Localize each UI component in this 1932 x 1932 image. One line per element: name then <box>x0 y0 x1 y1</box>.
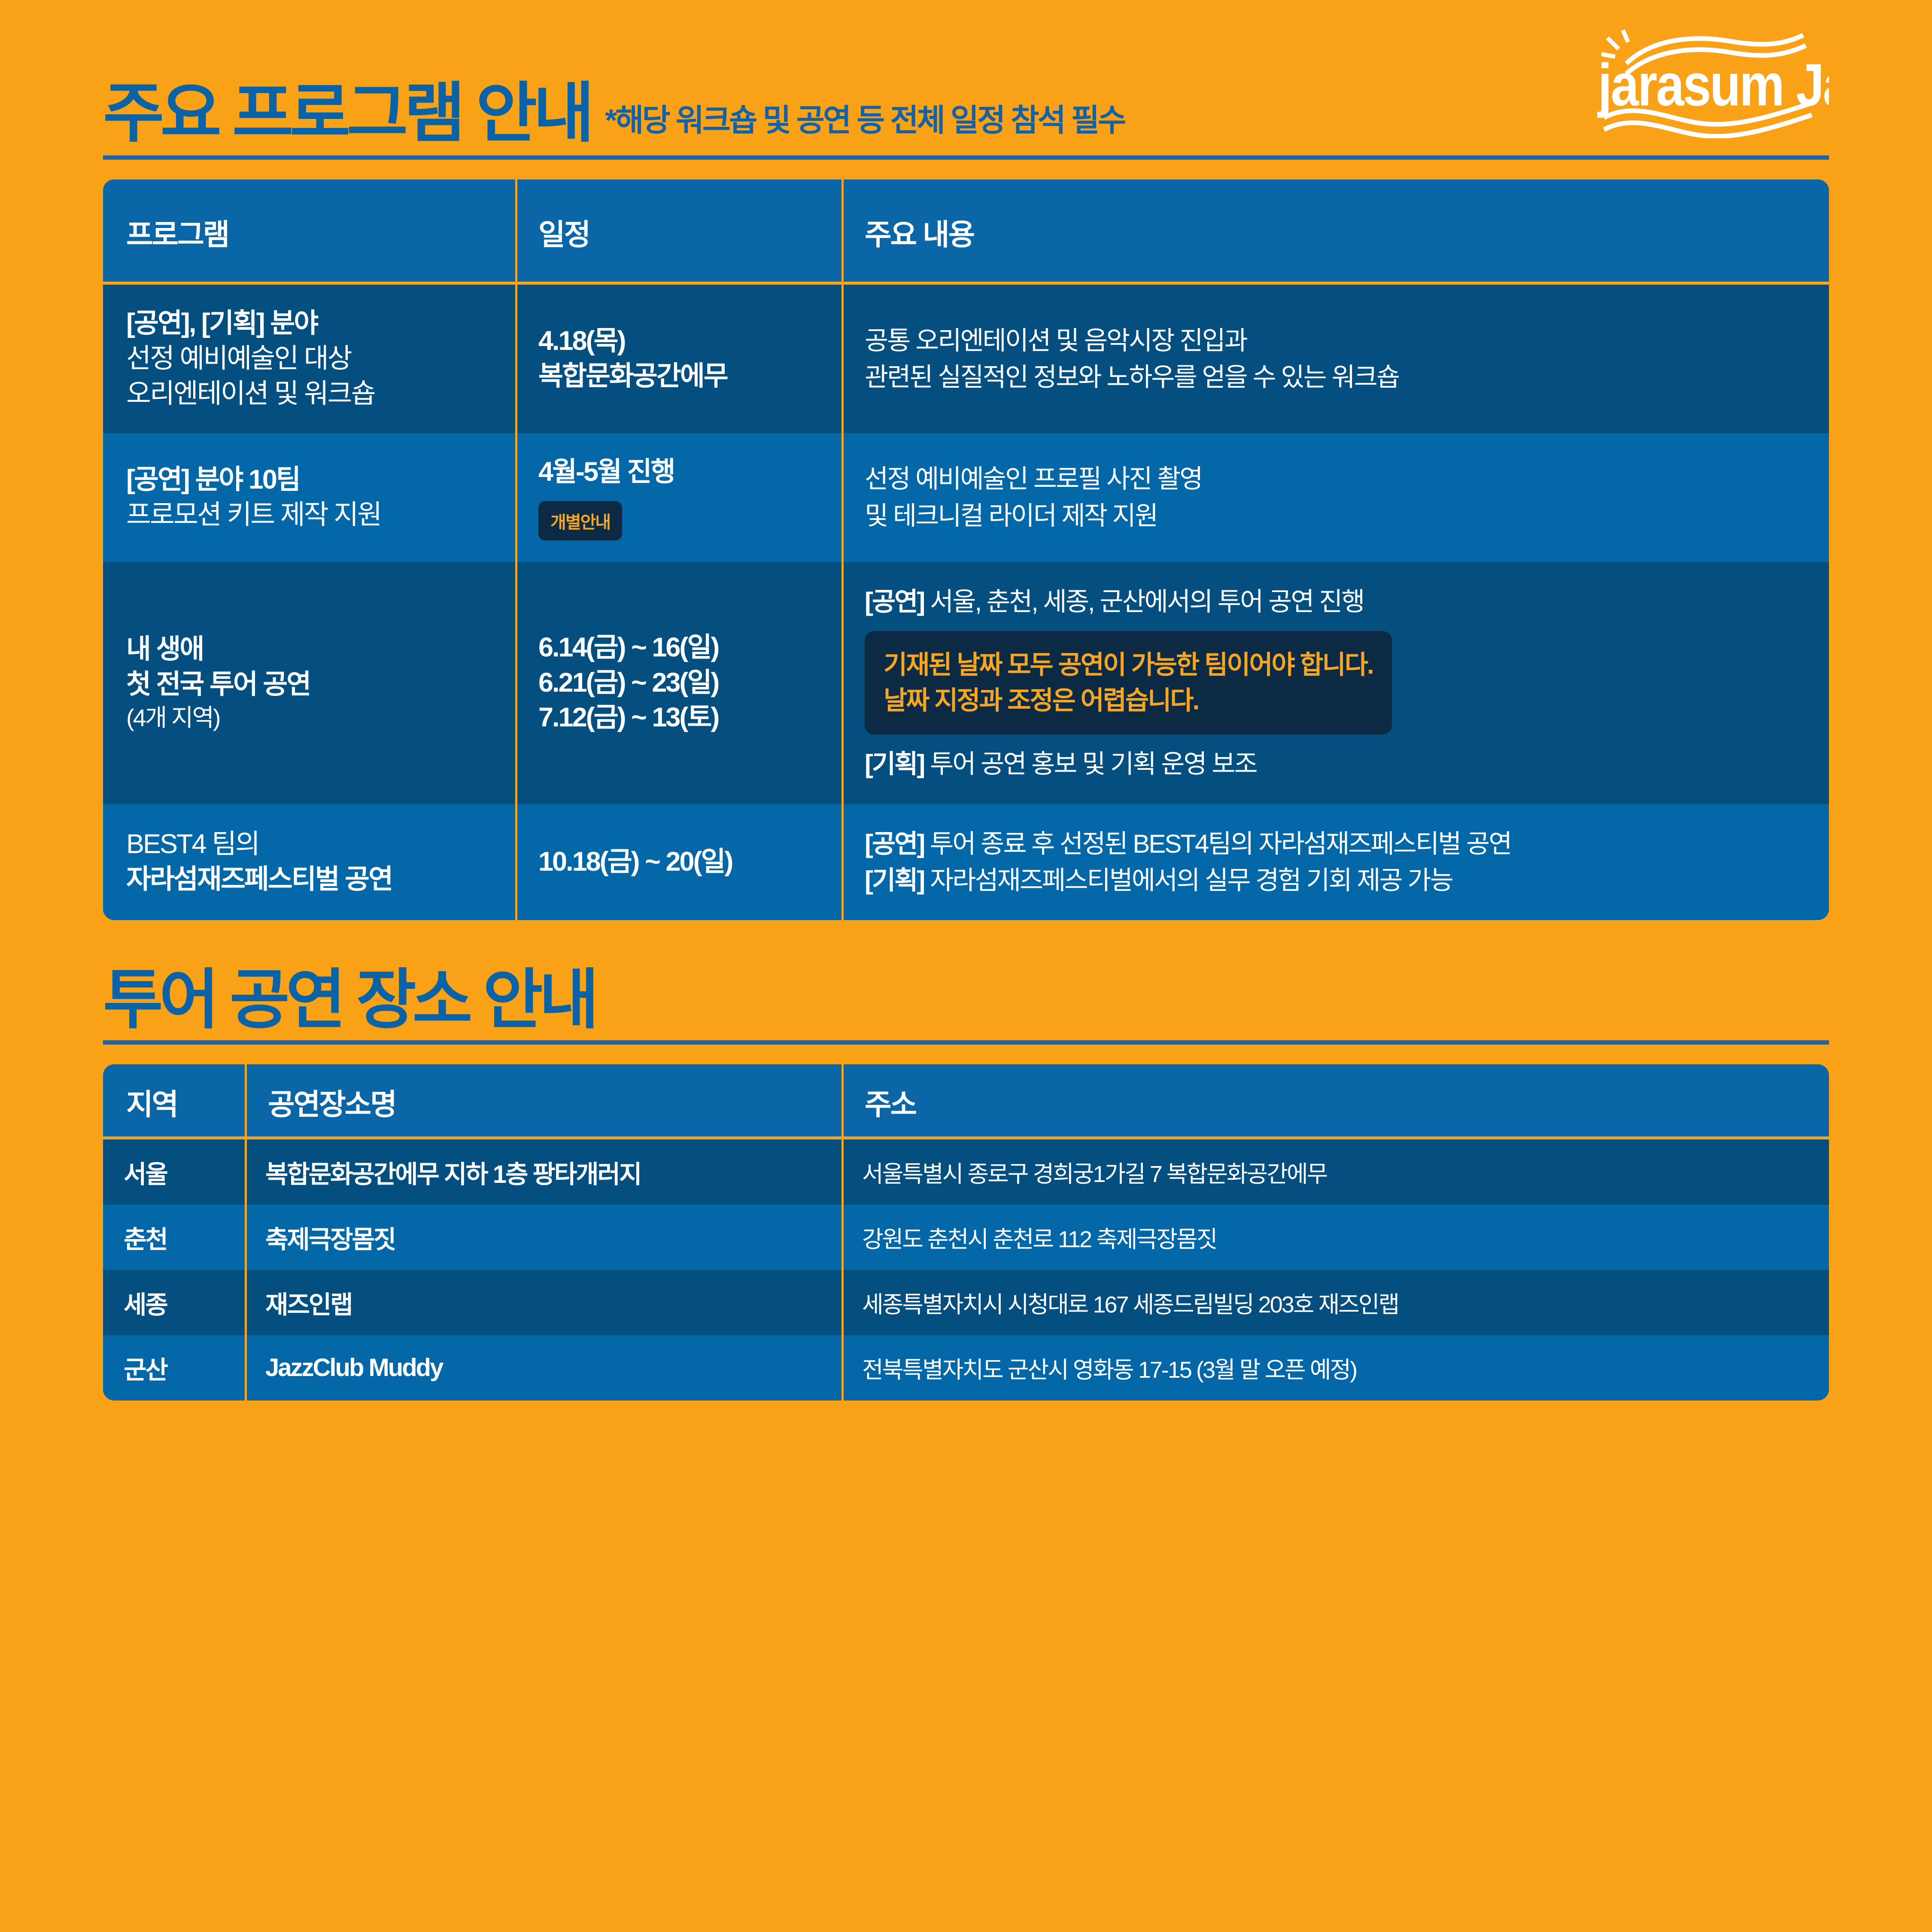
content-text-2: 투어 공연 홍보 및 기획 운영 보조 <box>924 750 1256 778</box>
content-tag-planning: [기획] <box>865 750 924 778</box>
jarasum-jazz-logo: jarasum Jazz <box>1589 22 1829 138</box>
content-line-1: [공연] 투어 종료 후 선정된 BEST4팀의 자라섬재즈페스티벌 공연 <box>865 826 1806 862</box>
venue-name: 재즈인랩 <box>245 1270 841 1335</box>
venue-region: 세종 <box>103 1270 245 1335</box>
program-table-header: 프로그램 일정 주요 내용 <box>103 179 1829 285</box>
page-header: 주요 프로그램 안내 *해당 워크숍 및 공연 등 전체 일정 참석 필수 ja… <box>103 0 1829 146</box>
col-header-region: 지역 <box>103 1064 245 1139</box>
venue-address: 강원도 춘천시 춘천로 112 축제극장몸짓 <box>841 1205 1829 1270</box>
title-divider <box>103 155 1829 160</box>
content-line-1: 선정 예비예술인 프로필 사진 촬영 <box>865 461 1806 497</box>
svg-text:jarasum Jazz: jarasum Jazz <box>1597 52 1829 118</box>
schedule-date: 10.18(금) ~ 20(일) <box>538 844 818 880</box>
content-tag-planning: [기획] <box>865 866 924 895</box>
notice-line-1: 기재된 날짜 모두 공연이 가능한 팀이어야 합니다. <box>884 647 1373 683</box>
cell-content: [공연] 투어 종료 후 선정된 BEST4팀의 자라섬재즈페스티벌 공연 [기… <box>841 804 1829 920</box>
program-detail-2: 자라섬재즈페스티벌 공연 <box>126 862 492 897</box>
individual-notice-badge: 개별안내 <box>538 501 622 541</box>
venue-section-title: 투어 공연 장소 안내 <box>103 967 1829 1033</box>
program-detail-1: 선정 예비예술인 대상 <box>126 341 492 377</box>
venue-row: 세종 재즈인랩 세종특별자치시 시청대로 167 세종드림빌딩 203호 재즈인… <box>103 1270 1829 1335</box>
cell-program: BEST4 팀의 자라섬재즈페스티벌 공연 <box>103 804 515 920</box>
col-header-program: 프로그램 <box>103 179 515 285</box>
col-header-content: 주요 내용 <box>841 179 1829 285</box>
program-title: 내 생애 <box>126 632 492 667</box>
cell-schedule: 10.18(금) ~ 20(일) <box>515 804 841 920</box>
schedule-date-1: 6.14(금) ~ 16(일) <box>538 630 818 665</box>
content-line-2: [기획] 투어 공연 홍보 및 기획 운영 보조 <box>865 746 1806 782</box>
content-text-1: 투어 종료 후 선정된 BEST4팀의 자라섬재즈페스티벌 공연 <box>924 829 1511 858</box>
program-detail-1: 첫 전국 투어 공연 <box>126 667 492 702</box>
page-subtitle: *해당 워크숍 및 공연 등 전체 일정 참석 필수 <box>605 95 1124 140</box>
table-row: BEST4 팀의 자라섬재즈페스티벌 공연 10.18(금) ~ 20(일) [… <box>103 804 1829 920</box>
venue-region: 서울 <box>103 1139 245 1205</box>
program-table: 프로그램 일정 주요 내용 [공연], [기획] 분야 선정 예비예술인 대상 … <box>103 179 1829 920</box>
schedule-date-2: 6.21(금) ~ 23(일) <box>538 665 818 701</box>
content-line-2: [기획] 자라섬재즈페스티벌에서의 실무 경험 기회 제공 가능 <box>865 862 1806 899</box>
venue-name: JazzClub Muddy <box>245 1335 841 1400</box>
cell-program: 내 생애 첫 전국 투어 공연 (4개 지역) <box>103 562 515 804</box>
notice-line-2: 날짜 지정과 조정은 어렵습니다. <box>884 683 1373 719</box>
schedule-date: 4월-5월 진행 <box>538 455 818 490</box>
content-line-2: 및 테크니컬 라이더 제작 지원 <box>865 498 1806 534</box>
content-tag-performance: [공연] <box>865 829 924 858</box>
program-detail-2: 오리엔테이션 및 워크숍 <box>126 377 492 412</box>
cell-content: 선정 예비예술인 프로필 사진 촬영 및 테크니컬 라이더 제작 지원 <box>841 433 1829 562</box>
content-line-2: 관련된 실질적인 정보와 노하우를 얻을 수 있는 워크숍 <box>865 359 1806 395</box>
col-header-address: 주소 <box>841 1064 1829 1139</box>
table-row: 내 생애 첫 전국 투어 공연 (4개 지역) 6.14(금) ~ 16(일) … <box>103 562 1829 804</box>
schedule-date-3: 7.12(금) ~ 13(토) <box>538 700 818 735</box>
notice-box: 기재된 날짜 모두 공연이 가능한 팀이어야 합니다. 날짜 지정과 조정은 어… <box>865 631 1392 735</box>
program-detail-1: BEST4 팀의 <box>126 827 492 862</box>
col-header-venue-name: 공연장소명 <box>245 1064 841 1139</box>
content-text-2: 자라섬재즈페스티벌에서의 실무 경험 기회 제공 가능 <box>924 866 1452 895</box>
venue-row: 서울 복합문화공간에무 지하 1층 팡타개러지 서울특별시 종로구 경희궁1가길… <box>103 1139 1829 1205</box>
venue-title-divider <box>103 1040 1829 1045</box>
content-text-1: 서울, 춘천, 세종, 군산에서의 투어 공연 진행 <box>924 587 1364 616</box>
content-line-1: 공통 오리엔테이션 및 음악시장 진입과 <box>865 322 1806 359</box>
table-row: [공연], [기획] 분야 선정 예비예술인 대상 오리엔테이션 및 워크숍 4… <box>103 285 1829 433</box>
cell-program: [공연], [기획] 분야 선정 예비예술인 대상 오리엔테이션 및 워크숍 <box>103 285 515 433</box>
venue-region: 군산 <box>103 1335 245 1400</box>
schedule-date: 4.18(목) <box>538 324 818 359</box>
venue-address: 서울특별시 종로구 경희궁1가길 7 복합문화공간에무 <box>841 1139 1829 1205</box>
col-header-schedule: 일정 <box>515 179 841 285</box>
venue-region: 춘천 <box>103 1205 245 1270</box>
program-detail-1: 프로모션 키트 제작 지원 <box>126 498 492 533</box>
cell-content: [공연] 서울, 춘천, 세종, 군산에서의 투어 공연 진행 기재된 날짜 모… <box>841 562 1829 804</box>
venue-name: 복합문화공간에무 지하 1층 팡타개러지 <box>245 1139 841 1205</box>
venue-address: 세종특별자치시 시청대로 167 세종드림빌딩 203호 재즈인랩 <box>841 1270 1829 1335</box>
table-row: [공연] 분야 10팀 프로모션 키트 제작 지원 4월-5월 진행 개별안내 … <box>103 433 1829 562</box>
program-title: [공연] 분야 10팀 <box>126 462 492 498</box>
venue-table: 지역 공연장소명 주소 서울 복합문화공간에무 지하 1층 팡타개러지 서울특별… <box>103 1064 1829 1400</box>
venue-row: 춘천 축제극장몸짓 강원도 춘천시 춘천로 112 축제극장몸짓 <box>103 1205 1829 1270</box>
content-line-1: [공연] 서울, 춘천, 세종, 군산에서의 투어 공연 진행 <box>865 583 1806 620</box>
cell-schedule: 4월-5월 진행 개별안내 <box>515 433 841 562</box>
cell-schedule: 6.14(금) ~ 16(일) 6.21(금) ~ 23(일) 7.12(금) … <box>515 562 841 804</box>
venue-name: 축제극장몸짓 <box>245 1205 841 1270</box>
venue-table-header: 지역 공연장소명 주소 <box>103 1064 1829 1139</box>
program-title: [공연], [기획] 분야 <box>126 306 492 341</box>
page-title: 주요 프로그램 안내 <box>103 81 590 146</box>
cell-schedule: 4.18(목) 복합문화공간에무 <box>515 285 841 433</box>
poster-page: 주요 프로그램 안내 *해당 워크숍 및 공연 등 전체 일정 참석 필수 ja… <box>0 0 1932 1932</box>
venue-row: 군산 JazzClub Muddy 전북특별자치도 군산시 영화동 17-15 … <box>103 1335 1829 1400</box>
schedule-venue: 복합문화공간에무 <box>538 359 818 394</box>
content-tag-performance: [공연] <box>865 587 924 616</box>
program-detail-2: (4개 지역) <box>126 702 492 734</box>
cell-program: [공연] 분야 10팀 프로모션 키트 제작 지원 <box>103 433 515 562</box>
venue-address: 전북특별자치도 군산시 영화동 17-15 (3월 말 오픈 예정) <box>841 1335 1829 1400</box>
cell-content: 공통 오리엔테이션 및 음악시장 진입과 관련된 실질적인 정보와 노하우를 얻… <box>841 285 1829 433</box>
